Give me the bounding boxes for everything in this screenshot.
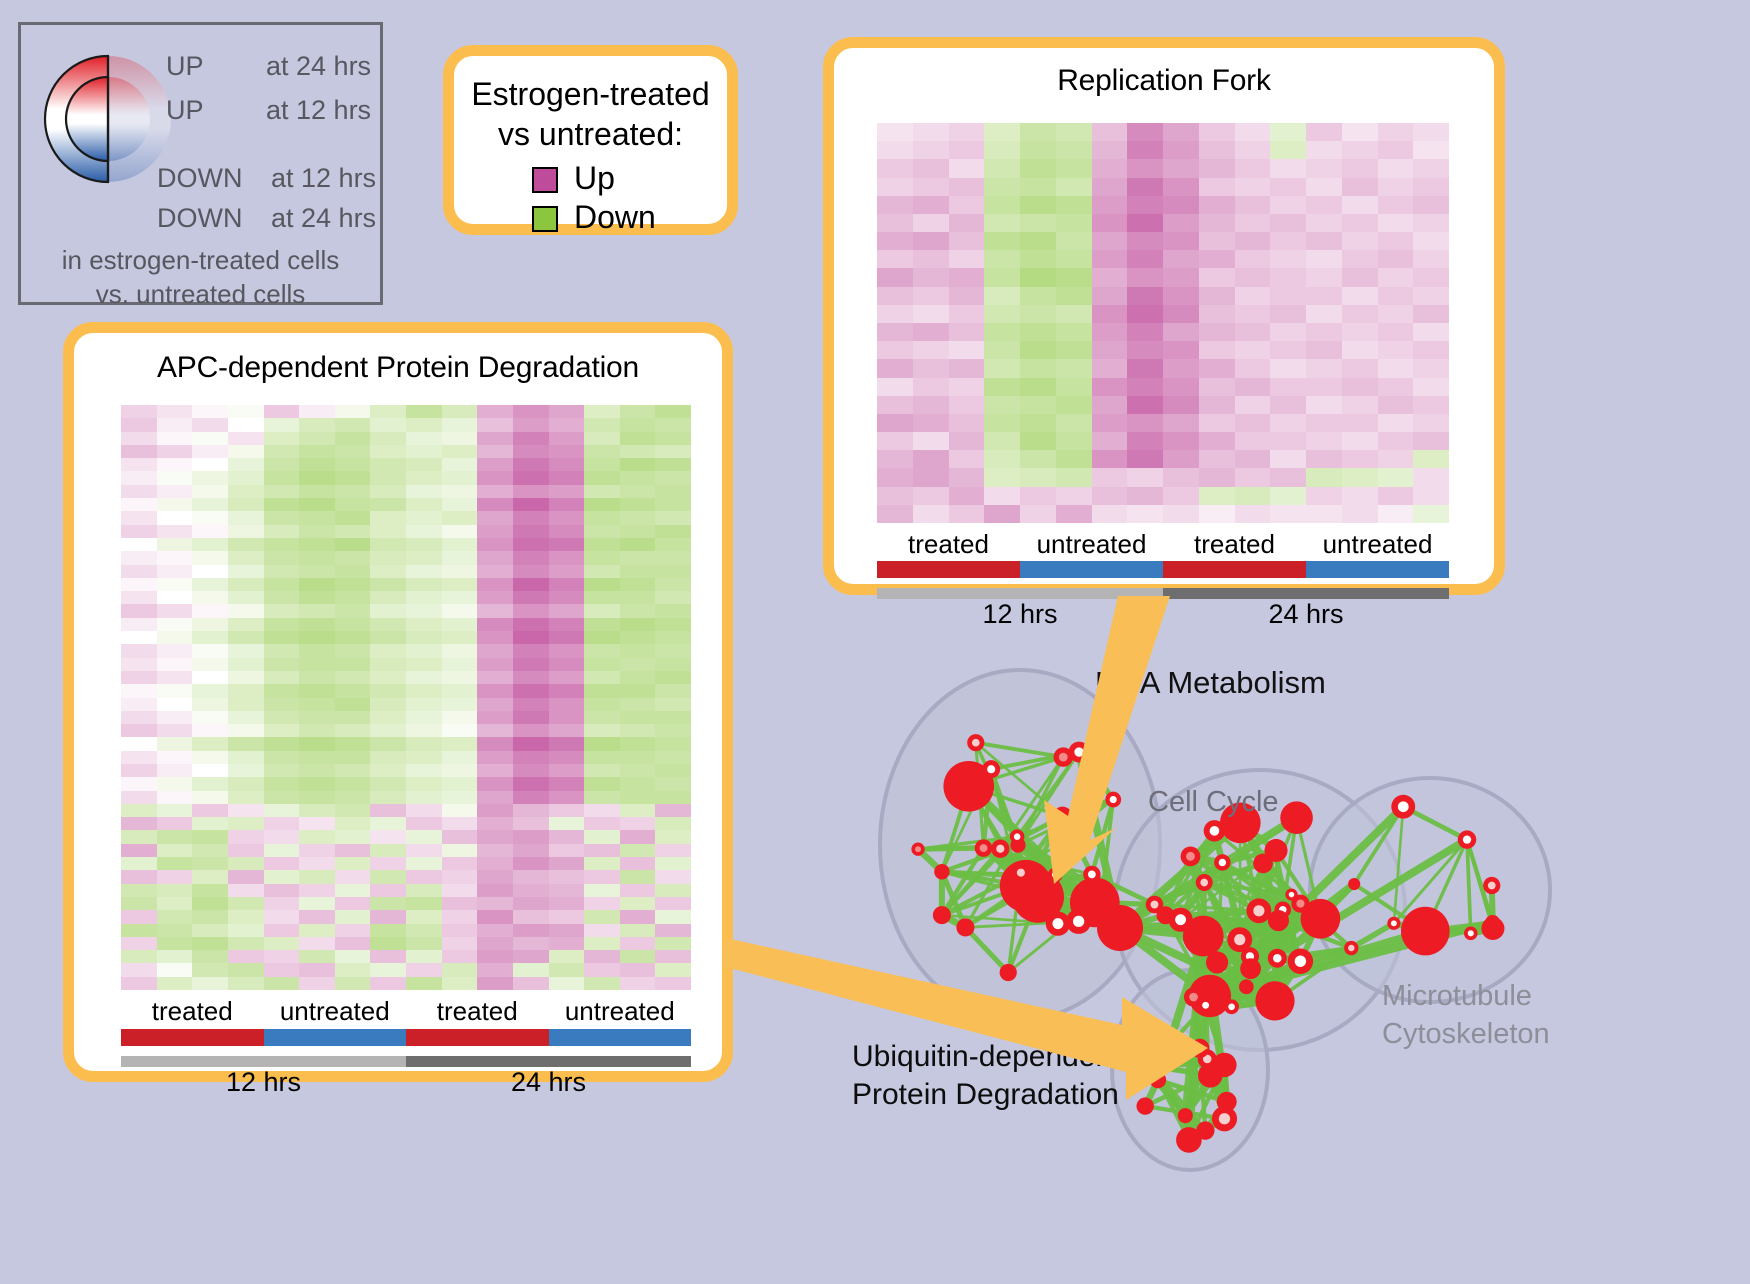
heatmap-cell xyxy=(1163,396,1199,414)
heatmap-cell xyxy=(1020,396,1056,414)
heatmap-cell xyxy=(620,498,656,511)
heatmap-cell xyxy=(1092,159,1128,177)
heatmap-cell xyxy=(1235,268,1271,286)
heatmap-cell xyxy=(513,924,549,937)
heatmap-cell xyxy=(1056,378,1092,396)
heatmap-cell xyxy=(477,498,513,511)
network-node xyxy=(1481,917,1504,940)
heatmap-cell xyxy=(620,538,656,551)
heatmap-cell xyxy=(1163,341,1199,359)
heatmap-cell xyxy=(335,644,371,657)
heatmap-cell xyxy=(1092,378,1128,396)
heatmap-cell xyxy=(620,924,656,937)
heatmap-cell xyxy=(264,857,300,870)
heatmap-cell xyxy=(1413,396,1449,414)
heatmap-cell xyxy=(1270,323,1306,341)
heatmap-cell xyxy=(549,910,585,923)
heatmap-cell xyxy=(264,578,300,591)
bar-untreated-12 xyxy=(264,1029,407,1046)
heatmap-cell xyxy=(1127,159,1163,177)
heatmap-cell xyxy=(584,884,620,897)
heatmap-cell xyxy=(877,123,913,141)
heatmap-cell xyxy=(513,578,549,591)
heatmap-cell xyxy=(984,123,1020,141)
heatmap-cell xyxy=(335,884,371,897)
heatmap-cell xyxy=(1127,450,1163,468)
heatmap-cell xyxy=(157,924,193,937)
heatmap-cell xyxy=(620,777,656,790)
network-node-core xyxy=(1189,993,1198,1002)
heatmap-cell xyxy=(1235,214,1271,232)
heatmap-cell xyxy=(655,418,691,431)
heatmap-cell xyxy=(513,711,549,724)
heatmap-cell xyxy=(1056,232,1092,250)
heatmap-cell xyxy=(335,445,371,458)
heatmap-cell xyxy=(949,141,985,159)
heatmap-cell xyxy=(1163,414,1199,432)
heatmap-cell xyxy=(370,711,406,724)
heatmap-cell xyxy=(584,777,620,790)
heatmap-cell xyxy=(442,618,478,631)
heatmap-cell xyxy=(335,658,371,671)
heatmap-cell xyxy=(1199,450,1235,468)
heatmap-cell xyxy=(477,591,513,604)
heatmap-cell xyxy=(299,684,335,697)
heatmap-cell xyxy=(121,538,157,551)
heatmap-cell xyxy=(406,618,442,631)
heatmap-cell xyxy=(913,141,949,159)
heatmap-cell xyxy=(264,405,300,418)
apc-heatmap xyxy=(121,405,691,990)
heatmap-cell xyxy=(442,458,478,471)
heatmap-cell xyxy=(877,250,913,268)
heatmap-cell xyxy=(477,724,513,737)
heatmap-cell xyxy=(949,268,985,286)
heatmap-cell xyxy=(228,525,264,538)
network-node-core xyxy=(1273,954,1282,963)
heatmap-cell xyxy=(370,950,406,963)
heatmap-cell xyxy=(192,937,228,950)
heatmap-cell xyxy=(1092,468,1128,486)
heatmap-cell xyxy=(549,551,585,564)
heatmap-cell xyxy=(121,658,157,671)
network-node xyxy=(933,906,951,924)
heatmap-cell xyxy=(513,604,549,617)
heatmap-cell xyxy=(1163,159,1199,177)
heatmap-cell xyxy=(157,618,193,631)
heatmap-cell xyxy=(370,631,406,644)
heatmap-cell xyxy=(335,538,371,551)
heatmap-cell xyxy=(1127,305,1163,323)
heatmap-cell xyxy=(1306,141,1342,159)
heatmap-cell xyxy=(620,711,656,724)
heatmap-cell xyxy=(121,551,157,564)
network-node-core xyxy=(980,844,988,852)
heatmap-cell xyxy=(1306,505,1342,523)
heatmap-cell xyxy=(549,804,585,817)
heatmap-cell xyxy=(584,804,620,817)
heatmap-cell xyxy=(157,764,193,777)
heatmap-cell xyxy=(584,791,620,804)
network-node-core xyxy=(1391,920,1397,926)
heatmap-cell xyxy=(121,950,157,963)
heatmap-cell xyxy=(192,671,228,684)
heatmap-cell xyxy=(299,498,335,511)
heatmap-cell xyxy=(121,591,157,604)
group-label-treated-24: treated xyxy=(406,996,549,1027)
heatmap-cell xyxy=(1020,159,1056,177)
heatmap-cell xyxy=(442,511,478,524)
heatmap-cell xyxy=(620,764,656,777)
heatmap-cell xyxy=(477,578,513,591)
heatmap-cell xyxy=(513,910,549,923)
heatmap-cell xyxy=(1342,305,1378,323)
heatmap-cell xyxy=(442,884,478,897)
heatmap-cell xyxy=(877,268,913,286)
heatmap-cell xyxy=(1163,268,1199,286)
heatmap-cell xyxy=(264,924,300,937)
network-node xyxy=(1136,1097,1153,1114)
heatmap-cell xyxy=(1199,232,1235,250)
heatmap-cell xyxy=(513,870,549,883)
heatmap-cell xyxy=(192,817,228,830)
heatmap-cell xyxy=(157,698,193,711)
heatmap-cell xyxy=(1342,505,1378,523)
heatmap-cell xyxy=(1270,378,1306,396)
heatmap-cell xyxy=(370,551,406,564)
network-node xyxy=(1401,907,1450,956)
heatmap-cell xyxy=(549,405,585,418)
heatmap-cell xyxy=(949,359,985,377)
heatmap-cell xyxy=(1413,341,1449,359)
heatmap-cell xyxy=(1413,378,1449,396)
heatmap-cell xyxy=(655,405,691,418)
heatmap-cell xyxy=(584,498,620,511)
legend-caption-line1: in estrogen-treated cells xyxy=(21,243,380,277)
heatmap-cell xyxy=(877,341,913,359)
heatmap-cell xyxy=(477,711,513,724)
heatmap-cell xyxy=(264,963,300,976)
heatmap-cell xyxy=(1056,414,1092,432)
heatmap-cell xyxy=(157,950,193,963)
heatmap-cell xyxy=(620,458,656,471)
heatmap-cell xyxy=(121,791,157,804)
heatmap-cell xyxy=(584,844,620,857)
heatmap-cell xyxy=(121,565,157,578)
heatmap-cell xyxy=(620,791,656,804)
heatmap-cell xyxy=(192,405,228,418)
network-node-core xyxy=(1219,859,1226,866)
heatmap-cell xyxy=(1127,232,1163,250)
heatmap-cell xyxy=(157,737,193,750)
heatmap-cell xyxy=(192,551,228,564)
heatmap-cell xyxy=(370,445,406,458)
heatmap-cell xyxy=(335,817,371,830)
heatmap-cell xyxy=(477,698,513,711)
heatmap-cell xyxy=(1378,305,1414,323)
heatmap-cell xyxy=(549,791,585,804)
group-label-treated-12: treated xyxy=(121,996,264,1027)
heatmap-cell xyxy=(192,631,228,644)
heatmap-cell xyxy=(1056,287,1092,305)
heatmap-cell xyxy=(192,445,228,458)
heatmap-cell xyxy=(655,471,691,484)
heatmap-cell xyxy=(584,511,620,524)
heatmap-cell xyxy=(370,498,406,511)
heatmap-cell xyxy=(157,445,193,458)
heatmap-cell xyxy=(157,830,193,843)
heatmap-cell xyxy=(620,418,656,431)
heatmap-cell xyxy=(299,791,335,804)
heatmap-cell xyxy=(655,578,691,591)
heatmap-cell xyxy=(192,698,228,711)
heatmap-cell xyxy=(121,963,157,976)
heatmap-cell xyxy=(228,604,264,617)
heatmap-cell xyxy=(121,485,157,498)
heatmap-cell xyxy=(406,538,442,551)
heatmap-cell xyxy=(192,870,228,883)
heatmap-cell xyxy=(228,844,264,857)
heatmap-cell xyxy=(335,737,371,750)
network-node-core xyxy=(1052,918,1063,929)
network-node xyxy=(1132,1055,1152,1075)
heatmap-cell xyxy=(477,870,513,883)
group-label-treated-12: treated xyxy=(877,529,1020,560)
heatmap-cell xyxy=(442,870,478,883)
heatmap-cell xyxy=(655,698,691,711)
heatmap-cell xyxy=(1020,196,1056,214)
heatmap-cell xyxy=(1378,432,1414,450)
heatmap-cell xyxy=(1020,123,1056,141)
heatmap-cell xyxy=(406,565,442,578)
heatmap-cell xyxy=(513,538,549,551)
heatmap-cell xyxy=(984,196,1020,214)
heatmap-cell xyxy=(877,214,913,232)
heatmap-cell xyxy=(513,445,549,458)
network-node-core xyxy=(1017,869,1025,877)
heatmap-cell xyxy=(655,963,691,976)
heatmap-cell xyxy=(406,511,442,524)
heatmap-cell xyxy=(335,578,371,591)
heatmap-cell xyxy=(477,937,513,950)
heatmap-cell xyxy=(264,698,300,711)
legend-up-label: Up xyxy=(574,160,615,196)
heatmap-cell xyxy=(121,525,157,538)
heatmap-cell xyxy=(1127,378,1163,396)
heatmap-cell xyxy=(1413,250,1449,268)
heatmap-cell xyxy=(335,498,371,511)
heatmap-cell xyxy=(1056,250,1092,268)
heatmap-cell xyxy=(1127,250,1163,268)
heatmap-cell xyxy=(370,884,406,897)
heatmap-cell xyxy=(1092,287,1128,305)
heatmap-cell xyxy=(513,764,549,777)
heatmap-cell xyxy=(121,432,157,445)
heatmap-cell xyxy=(584,764,620,777)
heatmap-cell xyxy=(1092,178,1128,196)
heatmap-cell xyxy=(157,937,193,950)
heatmap-cell xyxy=(121,924,157,937)
heatmap-cell xyxy=(442,830,478,843)
heatmap-cell xyxy=(1020,359,1056,377)
heatmap-cell xyxy=(299,591,335,604)
heatmap-cell xyxy=(1199,505,1235,523)
heatmap-cell xyxy=(299,551,335,564)
heatmap-cell xyxy=(228,937,264,950)
heatmap-cell xyxy=(1092,214,1128,232)
heatmap-cell xyxy=(157,658,193,671)
heatmap-cell xyxy=(121,458,157,471)
heatmap-cell xyxy=(1127,359,1163,377)
heatmap-cell xyxy=(442,924,478,937)
heatmap-cell xyxy=(157,817,193,830)
heatmap-cell xyxy=(513,791,549,804)
network-node xyxy=(1240,958,1261,979)
heatmap-cell xyxy=(1270,141,1306,159)
heatmap-cell xyxy=(192,963,228,976)
heatmap-cell xyxy=(442,950,478,963)
heatmap-cell xyxy=(370,658,406,671)
heatmap-cell xyxy=(192,511,228,524)
heatmap-cell xyxy=(513,471,549,484)
heatmap-cell xyxy=(513,551,549,564)
heatmap-cell xyxy=(228,910,264,923)
network-node xyxy=(1253,854,1273,874)
heatmap-cell xyxy=(549,684,585,697)
heatmap-cell xyxy=(406,910,442,923)
heatmap-cell xyxy=(192,804,228,817)
heatmap-cell xyxy=(1056,450,1092,468)
bar-24hrs xyxy=(406,1056,691,1067)
heatmap-cell xyxy=(121,777,157,790)
heatmap-cell xyxy=(335,631,371,644)
heatmap-cell xyxy=(299,751,335,764)
heatmap-cell xyxy=(655,538,691,551)
heatmap-cell xyxy=(620,844,656,857)
heatmap-cell xyxy=(1378,123,1414,141)
heatmap-cell xyxy=(192,565,228,578)
heatmap-cell xyxy=(584,644,620,657)
heatmap-cell xyxy=(513,698,549,711)
heatmap-cell xyxy=(335,591,371,604)
heatmap-cell xyxy=(620,591,656,604)
heatmap-cell xyxy=(121,897,157,910)
heatmap-cell xyxy=(1199,323,1235,341)
heatmap-cell xyxy=(264,884,300,897)
heatmap-cell xyxy=(1056,268,1092,286)
heatmap-cell xyxy=(299,418,335,431)
heatmap-cell xyxy=(192,764,228,777)
heatmap-cell xyxy=(335,950,371,963)
heatmap-cell xyxy=(157,538,193,551)
heatmap-cell xyxy=(1342,414,1378,432)
heatmap-cell xyxy=(620,631,656,644)
heatmap-cell xyxy=(1199,378,1235,396)
heatmap-cell xyxy=(1020,341,1056,359)
heatmap-cell xyxy=(477,458,513,471)
heatmap-cell xyxy=(477,844,513,857)
heatmap-cell xyxy=(370,684,406,697)
heatmap-cell xyxy=(406,445,442,458)
heatmap-cell xyxy=(1235,305,1271,323)
heatmap-cell xyxy=(477,857,513,870)
heatmap-cell xyxy=(1056,123,1092,141)
heatmap-cell xyxy=(335,698,371,711)
heatmap-cell xyxy=(877,159,913,177)
heatmap-cell xyxy=(477,538,513,551)
updown-legend-panel: Estrogen-treated vs untreated: Up Down xyxy=(443,45,738,235)
heatmap-cell xyxy=(620,432,656,445)
group-label-treated-24: treated xyxy=(1163,529,1306,560)
heatmap-cell xyxy=(192,418,228,431)
heatmap-cell xyxy=(620,817,656,830)
heatmap-cell xyxy=(1413,123,1449,141)
heatmap-cell xyxy=(620,910,656,923)
heatmap-cell xyxy=(121,844,157,857)
network-node-core xyxy=(1219,1113,1230,1124)
heatmap-cell xyxy=(157,777,193,790)
heatmap-cell xyxy=(949,505,985,523)
heatmap-cell xyxy=(1270,305,1306,323)
heatmap-cell xyxy=(1235,232,1271,250)
updown-legend-title-line2: vs untreated: xyxy=(464,114,717,154)
heatmap-cell xyxy=(549,977,585,990)
heatmap-cell xyxy=(157,804,193,817)
network-node-core xyxy=(1295,956,1306,967)
heatmap-cell xyxy=(157,551,193,564)
heatmap-cell xyxy=(1235,378,1271,396)
heatmap-cell xyxy=(299,737,335,750)
heatmap-cell xyxy=(1270,414,1306,432)
bar-12hrs xyxy=(121,1056,406,1067)
heatmap-cell xyxy=(620,405,656,418)
heatmap-cell xyxy=(913,414,949,432)
heatmap-cell xyxy=(1092,250,1128,268)
heatmap-cell xyxy=(406,471,442,484)
heatmap-cell xyxy=(335,485,371,498)
network-node-core xyxy=(1074,747,1083,756)
heatmap-cell xyxy=(513,644,549,657)
heatmap-cell xyxy=(121,618,157,631)
heatmap-cell xyxy=(655,458,691,471)
heatmap-cell xyxy=(913,159,949,177)
network-node xyxy=(1268,910,1289,931)
heatmap-cell xyxy=(299,711,335,724)
heatmap-cell xyxy=(264,591,300,604)
heatmap-cell xyxy=(1163,196,1199,214)
heatmap-cell xyxy=(157,857,193,870)
heatmap-cell xyxy=(1306,396,1342,414)
heatmap-cell xyxy=(370,844,406,857)
heatmap-cell xyxy=(228,817,264,830)
heatmap-cell xyxy=(1378,505,1414,523)
heatmap-cell xyxy=(335,830,371,843)
heatmap-cell xyxy=(655,551,691,564)
down-swatch-icon xyxy=(532,206,558,232)
replication-fork-title: Replication Fork xyxy=(834,64,1494,98)
heatmap-cell xyxy=(655,591,691,604)
heatmap-cell xyxy=(984,323,1020,341)
heatmap-cell xyxy=(1127,341,1163,359)
heatmap-cell xyxy=(913,450,949,468)
heatmap-cell xyxy=(655,817,691,830)
heatmap-cell xyxy=(549,698,585,711)
heatmap-cell xyxy=(913,396,949,414)
legend-up-12-time: at 12 hrs xyxy=(266,95,371,126)
heatmap-cell xyxy=(264,538,300,551)
heatmap-cell xyxy=(1342,468,1378,486)
heatmap-cell xyxy=(620,658,656,671)
